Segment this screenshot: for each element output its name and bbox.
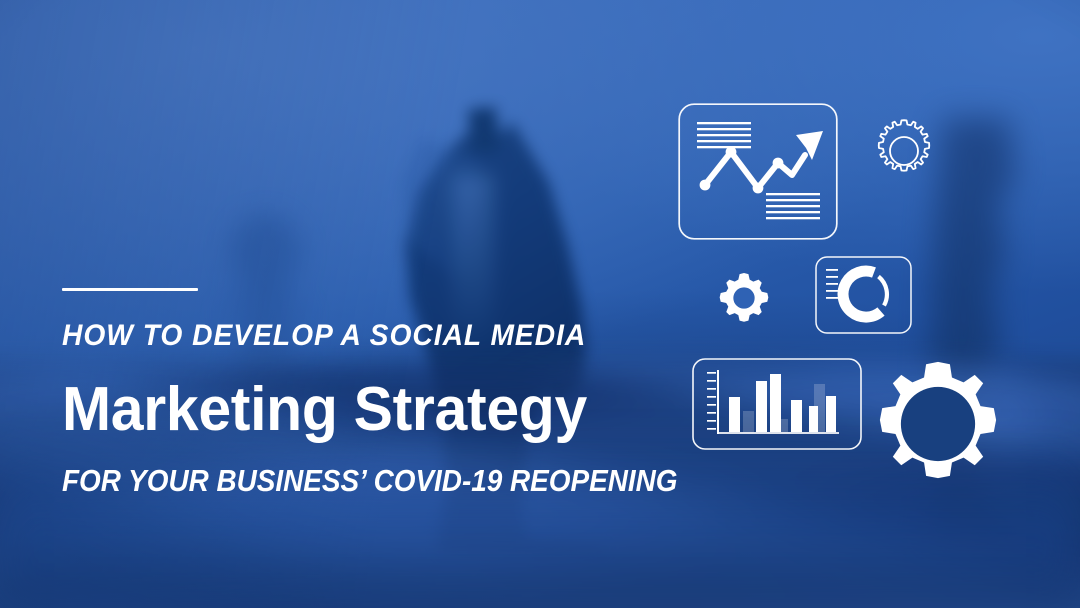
subtitle-text: FOR YOUR BUSINESS’ COVID-19 REOPENING	[62, 465, 710, 496]
card-text-lines-top	[697, 122, 751, 148]
card-text-lines-bottom	[766, 193, 820, 219]
gear-solid-large-icon[interactable]	[874, 360, 1002, 488]
divider-rule	[62, 288, 198, 291]
headline-block: HOW TO DEVELOP A SOCIAL MEDIA Marketing …	[62, 288, 782, 496]
eyebrow-text: HOW TO DEVELOP A SOCIAL MEDIA	[62, 321, 739, 351]
donut-card-tick-lines	[826, 269, 838, 299]
donut-chart-card-icon[interactable]	[815, 256, 912, 334]
trend-arrow-icon	[796, 131, 823, 160]
gear-outline-icon[interactable]	[869, 116, 939, 186]
marketing-banner: HOW TO DEVELOP A SOCIAL MEDIA Marketing …	[0, 0, 1080, 608]
page-title: Marketing Strategy	[62, 379, 746, 441]
donut-segments	[843, 271, 887, 317]
line-chart-card-icon[interactable]	[678, 103, 838, 240]
